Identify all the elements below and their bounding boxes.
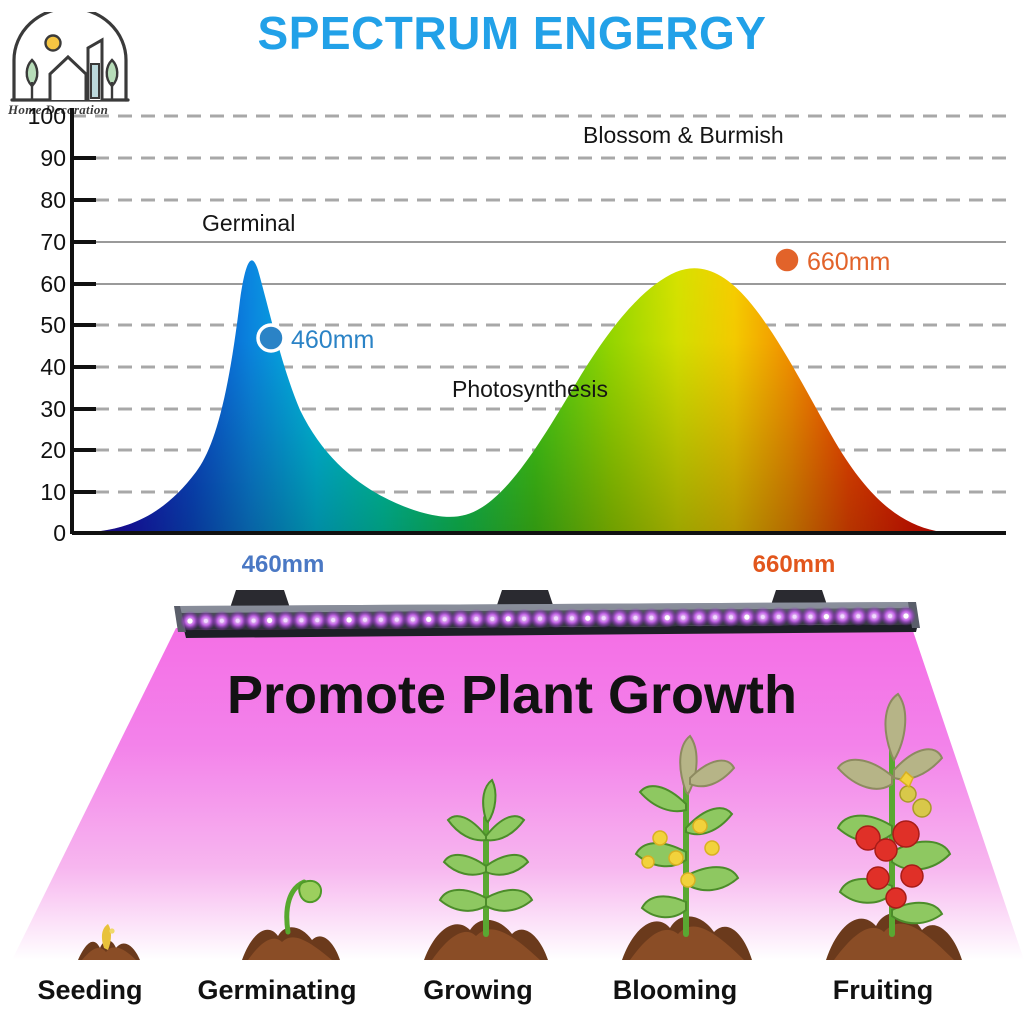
stage-label-fruiting: Fruiting xyxy=(833,975,933,1005)
stage-label-growing: Growing xyxy=(423,975,533,1005)
y-axis-tick-labels: 100 90 80 70 60 50 40 30 20 10 0 xyxy=(28,103,66,546)
y-tick-20: 20 xyxy=(40,437,66,463)
chart-gridlines xyxy=(72,116,1006,492)
y-tick-60: 60 xyxy=(40,271,66,297)
spectrum-energy-infographic: Home Decoration SPECTRUM ENGERGY xyxy=(0,0,1024,1024)
y-tick-90: 90 xyxy=(40,145,66,171)
callout-460mm-label: 460mm xyxy=(291,326,374,354)
y-tick-50: 50 xyxy=(40,312,66,338)
annotation-photosynthesis: Photosynthesis xyxy=(452,376,608,402)
callout-660mm-label: 660mm xyxy=(807,248,890,276)
page-title: SPECTRUM ENGERGY xyxy=(0,6,1024,60)
y-tick-70: 70 xyxy=(40,229,66,255)
spectrum-curve xyxy=(60,100,1010,540)
grow-light-section: Promote Plant Growth Seeding Germinating xyxy=(0,580,1024,1024)
y-tick-80: 80 xyxy=(40,187,66,213)
y-tick-0: 0 xyxy=(53,520,66,546)
y-tick-100: 100 xyxy=(28,103,66,129)
y-tick-40: 40 xyxy=(40,354,66,380)
annotation-germinal: Germinal xyxy=(202,210,295,236)
callout-660mm: 660mm xyxy=(774,247,890,276)
x-tick-660mm: 660mm xyxy=(753,551,836,578)
y-tick-10: 10 xyxy=(40,479,66,505)
stage-label-blooming: Blooming xyxy=(613,975,737,1005)
stage-label-seeding: Seeding xyxy=(37,975,142,1005)
y-tick-30: 30 xyxy=(40,396,66,422)
callout-460mm: 460mm xyxy=(258,325,374,354)
stage-label-germinating: Germinating xyxy=(197,975,356,1005)
promote-plant-growth-heading: Promote Plant Growth xyxy=(227,665,797,725)
spectrum-chart: 100 90 80 70 60 50 40 30 20 10 0 Germina… xyxy=(0,100,1024,580)
annotation-blossom-burmish: Blossom & Burmish xyxy=(583,122,784,148)
x-tick-460mm: 460mm xyxy=(242,551,325,578)
